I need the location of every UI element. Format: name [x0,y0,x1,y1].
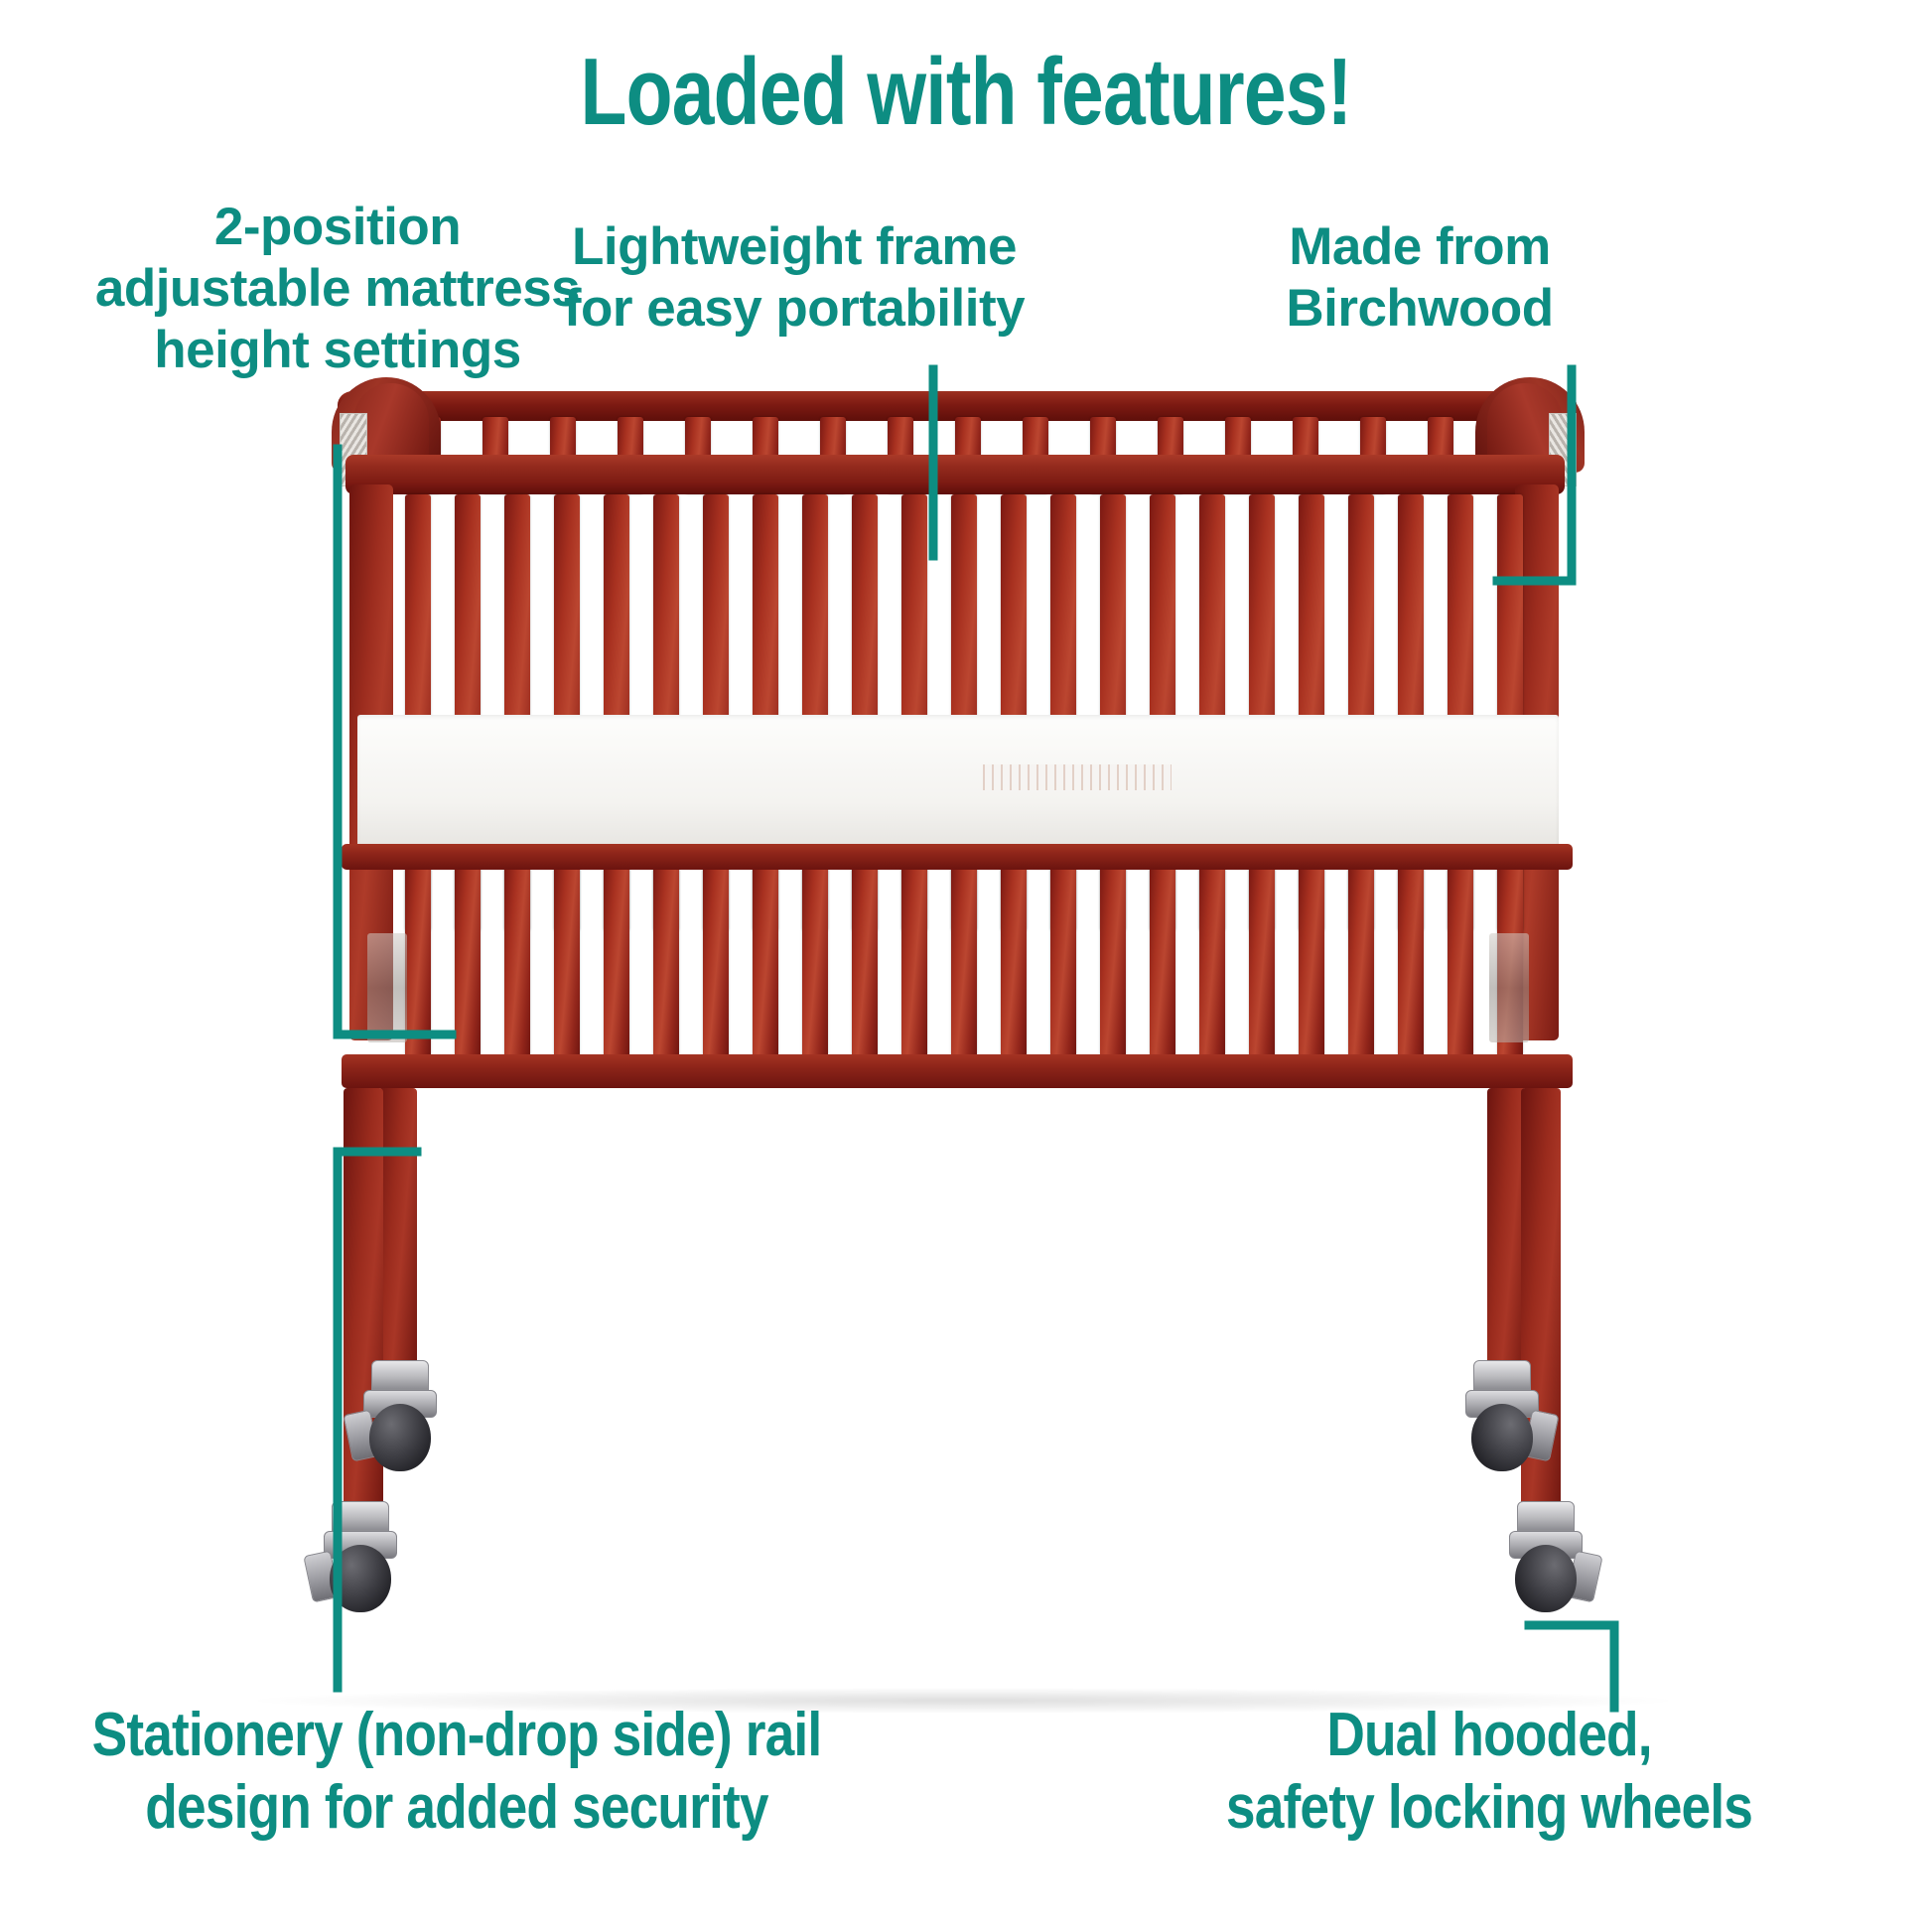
callout-locking-wheels: Dual hooded, safety locking wheels [1114,1700,1865,1844]
callout-lightweight-frame: Lightweight frame for easy portability [516,216,1072,340]
callout-line: for easy portability [516,278,1072,340]
callout-line: design for added security [72,1772,841,1845]
caster-wheel-back-left [353,1360,445,1477]
mattress-label-tag [983,764,1172,790]
crib-fold-hinge-right [1489,933,1529,1042]
callout-line: Lightweight frame [516,216,1072,278]
crib-leg-back-left [377,1088,417,1376]
infographic-canvas: Loaded with features! [0,0,1932,1932]
page-title: Loaded with features! [194,38,1739,147]
caster-wheel-front-right [1501,1501,1592,1618]
product-image-mini-crib [298,377,1608,1727]
callout-birchwood: Made from Birchwood [1142,216,1698,340]
crib-fold-hinge-left [367,933,407,1042]
caster-wheel-front-left [314,1501,405,1618]
callout-line: Dual hooded, [1114,1700,1865,1772]
crib-bottom-rail [342,1054,1573,1088]
crib-front-top-rail [345,455,1565,494]
callout-line: Birchwood [1142,278,1698,340]
callout-stationery-rail: Stationery (non-drop side) rail design f… [72,1700,841,1844]
crib-mattress-support-rail [342,844,1573,870]
callout-line: Stationery (non-drop side) rail [72,1700,841,1772]
callout-line: Made from [1142,216,1698,278]
callout-line: safety locking wheels [1114,1772,1865,1845]
caster-wheel-back-right [1457,1360,1549,1477]
